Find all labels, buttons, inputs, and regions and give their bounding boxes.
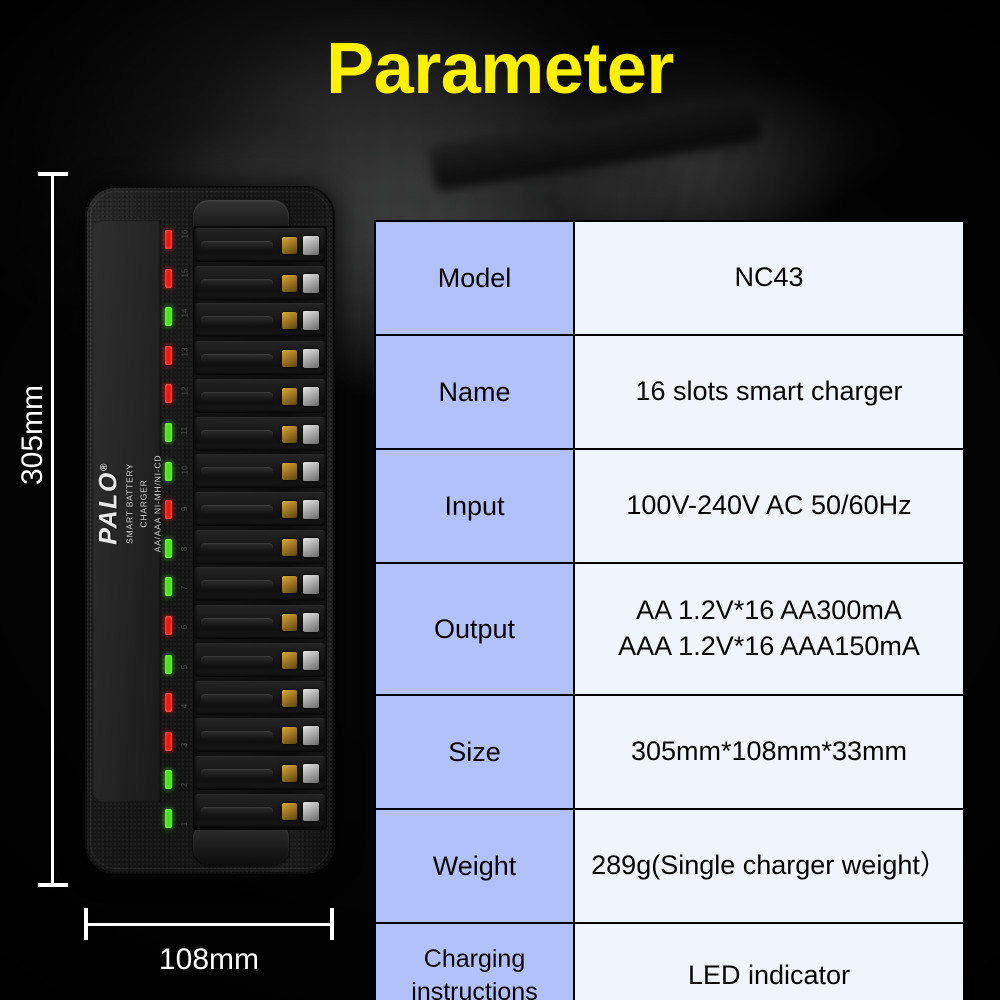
battery-bay-2: [195, 266, 325, 300]
bay-slider-rail: [201, 279, 273, 288]
battery-bay-7: [195, 454, 325, 488]
bay-slider-rail: [201, 618, 273, 627]
spec-label-line: instructions: [384, 976, 565, 1000]
table-row: ModelNC43: [375, 221, 964, 335]
battery-bay-4: [195, 341, 325, 375]
led-indicator-12: [165, 655, 172, 674]
battery-charger-product: PALO® SMART BATTERY CHARGER AA/AAA NI-MH…: [85, 186, 335, 874]
brand-block: PALO® SMART BATTERY CHARGER AA/AAA NI-MH…: [97, 389, 162, 619]
spec-value-line: AA 1.2V*16 AA300mA: [583, 593, 955, 629]
height-dimension-label: 305mm: [16, 340, 50, 530]
battery-bay-1: [195, 228, 325, 262]
slot-number-5: 5: [181, 664, 189, 668]
battery-bay-10: [195, 567, 325, 601]
bay-slider-rail: [201, 694, 273, 703]
table-row: Name16 slots smart charger: [375, 335, 964, 449]
bay-negative-contact: [303, 274, 319, 293]
battery-bay-15: [195, 756, 325, 790]
spec-value-6: 289g(Single charger weight）: [574, 809, 964, 923]
bay-negative-contact: [303, 689, 319, 708]
spec-label-5: Size: [375, 695, 574, 809]
page-title: Parameter: [0, 33, 1000, 105]
led-indicator-9: [165, 539, 172, 558]
led-indicator-2: [165, 269, 172, 288]
led-indicator-7: [165, 462, 172, 481]
bay-positive-contact: [282, 388, 297, 405]
slot-number-3: 3: [181, 743, 189, 747]
height-dimension-cap-top: [38, 172, 68, 176]
spec-value-7: LED indicator: [574, 923, 964, 1000]
width-dimension-line: [85, 923, 333, 926]
led-indicator-strip: [163, 230, 173, 828]
bay-slider-rail: [201, 543, 273, 552]
bay-negative-contact: [303, 387, 319, 406]
brand-subline-2: CHARGER: [139, 389, 150, 619]
bay-positive-contact: [282, 237, 297, 254]
led-indicator-3: [165, 307, 172, 326]
bay-positive-contact: [282, 727, 297, 744]
spec-label-1: Model: [375, 221, 574, 335]
battery-bay-9: [195, 530, 325, 564]
slot-number-16: 16: [181, 230, 189, 239]
led-indicator-16: [165, 809, 172, 828]
battery-bay-11: [195, 605, 325, 639]
battery-bay-13: [195, 681, 325, 715]
specification-table: ModelNC43Name16 slots smart chargerInput…: [374, 220, 965, 1000]
slot-number-11: 11: [181, 426, 189, 434]
bay-positive-contact: [282, 803, 297, 820]
table-row: Weight289g(Single charger weight）: [375, 809, 964, 923]
slot-number-column: 16151413121110987654321: [178, 230, 192, 828]
bay-positive-contact: [282, 576, 297, 593]
bay-slider-rail: [201, 505, 273, 514]
spec-value-1: NC43: [574, 221, 964, 335]
bay-positive-contact: [282, 350, 297, 367]
spec-label-4: Output: [375, 563, 574, 695]
slot-number-2: 2: [181, 782, 189, 786]
led-indicator-13: [165, 693, 172, 712]
mic-body-bar: [428, 94, 761, 191]
bay-negative-contact: [303, 538, 319, 557]
led-indicator-8: [165, 500, 172, 519]
bay-slider-rail: [201, 316, 273, 325]
spec-value-5: 305mm*108mm*33mm: [574, 695, 964, 809]
width-dimension-cap-right: [330, 908, 334, 940]
bay-positive-contact: [282, 614, 297, 631]
battery-bay-16: [195, 794, 325, 828]
table-row: OutputAA 1.2V*16 AA300mAAAA 1.2V*16 AAA1…: [375, 563, 964, 695]
bay-slider-rail: [201, 580, 273, 589]
bay-negative-contact: [303, 500, 319, 519]
bay-positive-contact: [282, 652, 297, 669]
battery-bay-14: [195, 718, 325, 752]
bay-negative-contact: [303, 613, 319, 632]
led-indicator-10: [165, 577, 172, 596]
spec-label-3: Input: [375, 449, 574, 563]
slot-number-9: 9: [181, 507, 189, 511]
spec-value-line: NC43: [583, 260, 955, 296]
spec-value-line: 100V-240V AC 50/60Hz: [583, 488, 955, 524]
width-dimension-label: 108mm: [85, 943, 333, 977]
brand-name: PALO®: [97, 389, 122, 619]
table-row: Input100V-240V AC 50/60Hz: [375, 449, 964, 563]
bay-positive-contact: [282, 539, 297, 556]
bay-positive-contact: [282, 690, 297, 707]
bay-negative-contact: [303, 764, 319, 783]
led-indicator-5: [165, 384, 172, 403]
bay-slider-rail: [201, 731, 273, 740]
bay-slider-rail: [201, 354, 273, 363]
slot-number-14: 14: [181, 308, 189, 317]
bay-slider-rail: [201, 656, 273, 665]
spec-value-2: 16 slots smart charger: [574, 335, 964, 449]
registered-trademark-icon: ®: [99, 462, 110, 471]
brand-subline-1: SMART BATTERY: [125, 389, 136, 619]
battery-bay-8: [195, 492, 325, 526]
led-indicator-6: [165, 423, 172, 442]
spec-value-3: 100V-240V AC 50/60Hz: [574, 449, 964, 563]
bay-slider-rail: [201, 807, 273, 816]
height-dimension-cap-bottom: [38, 883, 68, 887]
bay-slider-rail: [201, 241, 273, 250]
spec-value-line: LED indicator: [583, 958, 955, 994]
bay-negative-contact: [303, 802, 319, 821]
led-indicator-15: [165, 770, 172, 789]
bay-positive-contact: [282, 312, 297, 329]
bay-positive-contact: [282, 275, 297, 292]
slot-number-15: 15: [181, 269, 189, 278]
slot-number-7: 7: [181, 586, 189, 590]
led-indicator-4: [165, 346, 172, 365]
bay-negative-contact: [303, 575, 319, 594]
bay-negative-contact: [303, 349, 319, 368]
bay-slider-rail: [201, 769, 273, 778]
slot-number-10: 10: [181, 466, 189, 475]
slot-number-8: 8: [181, 546, 189, 550]
bay-positive-contact: [282, 426, 297, 443]
spec-label-7: Charginginstructions: [375, 923, 574, 1000]
bay-negative-contact: [303, 311, 319, 330]
bay-positive-contact: [282, 501, 297, 518]
led-indicator-14: [165, 732, 172, 751]
bay-negative-contact: [303, 236, 319, 255]
bay-positive-contact: [282, 765, 297, 782]
bay-negative-contact: [303, 651, 319, 670]
spec-value-4: AA 1.2V*16 AA300mAAAA 1.2V*16 AAA150mA: [574, 563, 964, 695]
bay-negative-contact: [303, 726, 319, 745]
spec-value-line: 16 slots smart charger: [583, 374, 955, 410]
brand-subline-3: AA/AAA NI-MH/NI-CD: [153, 389, 162, 619]
slot-number-4: 4: [181, 704, 189, 708]
led-indicator-1: [165, 230, 172, 249]
spec-value-line: 305mm*108mm*33mm: [583, 734, 955, 770]
brand-name-text: PALO: [95, 471, 123, 545]
charger-label-panel: PALO® SMART BATTERY CHARGER AA/AAA NI-MH…: [93, 220, 161, 802]
bay-negative-contact: [303, 425, 319, 444]
height-dimension-line: [51, 174, 54, 886]
table-row: Size305mm*108mm*33mm: [375, 695, 964, 809]
bay-negative-contact: [303, 462, 319, 481]
bay-positive-contact: [282, 463, 297, 480]
slot-number-6: 6: [181, 625, 189, 629]
led-indicator-11: [165, 616, 172, 635]
spec-label-2: Name: [375, 335, 574, 449]
battery-bay-3: [195, 303, 325, 337]
spec-label-6: Weight: [375, 809, 574, 923]
battery-bay-6: [195, 417, 325, 451]
spec-value-line: 289g(Single charger weight）: [583, 848, 955, 884]
slot-number-12: 12: [181, 387, 189, 396]
slot-number-13: 13: [181, 348, 189, 357]
product-spec-image: Parameter 305mm 108mm PALO® SMART BATTER…: [0, 0, 1000, 1000]
battery-bay-5: [195, 379, 325, 413]
battery-bay-12: [195, 643, 325, 677]
slot-number-1: 1: [181, 822, 189, 826]
spec-value-line: AAA 1.2V*16 AAA150mA: [583, 629, 955, 665]
bay-slider-rail: [201, 467, 273, 476]
spec-label-line: Charging: [384, 943, 565, 976]
bay-slider-rail: [201, 430, 273, 439]
bay-slider-rail: [201, 392, 273, 401]
width-dimension-cap-left: [84, 908, 88, 940]
table-row: CharginginstructionsLED indicator: [375, 923, 964, 1000]
battery-bay-group: [193, 226, 327, 830]
